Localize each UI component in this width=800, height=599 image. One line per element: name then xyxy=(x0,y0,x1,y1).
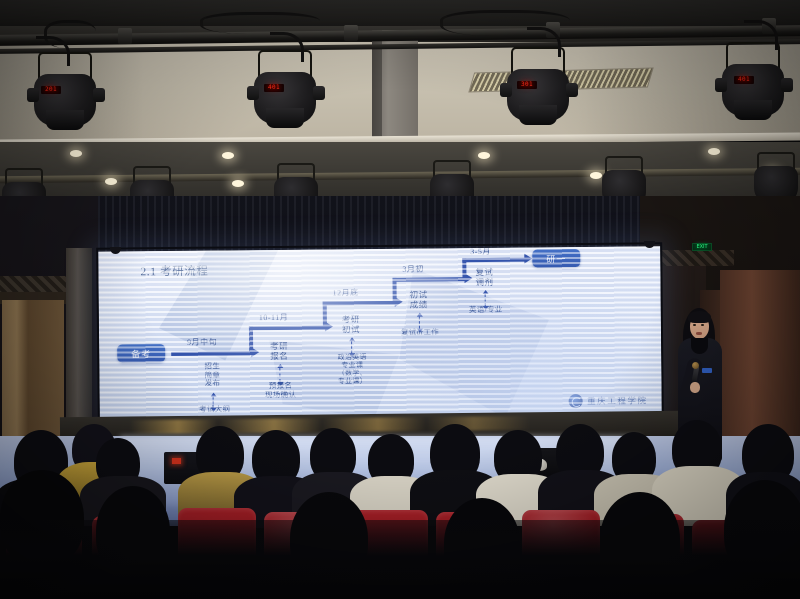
exit-sign: EXIT xyxy=(692,243,712,251)
stage-light-lens xyxy=(519,105,557,125)
flow-segment xyxy=(392,277,466,282)
stage-light-display: 401 xyxy=(264,84,284,92)
stage-light-display: 301 xyxy=(517,81,537,89)
stage-light-lens xyxy=(734,100,772,120)
auditorium-scene: 201 401 301 401 xyxy=(0,0,800,599)
stage-light-lens xyxy=(46,110,84,130)
flow-segment xyxy=(323,301,397,306)
stage-light-knob xyxy=(247,86,259,100)
stage-light-knob xyxy=(93,88,105,102)
presenter-eye xyxy=(693,324,696,326)
ceiling-downlight xyxy=(70,150,82,157)
presenter-badge xyxy=(702,368,712,373)
flow-stage-label: 考研 报名 xyxy=(259,342,299,362)
ceiling-downlight xyxy=(222,152,234,159)
flow-dashed-connector xyxy=(279,368,280,382)
stage-light-1: 201 xyxy=(30,52,102,134)
flow-dashed-connector xyxy=(351,341,352,353)
ceiling-downlight xyxy=(105,178,117,185)
flow-subdetail-label: 英语/专业 xyxy=(455,306,517,315)
school-name: 重庆工程学院 xyxy=(587,394,648,407)
presenter-mouth xyxy=(696,332,702,335)
stage-light-lens xyxy=(266,108,304,128)
foreground-darkness xyxy=(0,520,800,599)
ceiling-downlight xyxy=(232,180,244,187)
stage-light-display: 201 xyxy=(41,86,61,94)
flow-node-end: 研一 xyxy=(532,249,580,267)
flow-stage-label: 考研 初试 xyxy=(331,315,371,335)
stage-light-knob xyxy=(500,83,512,97)
flow-segment xyxy=(171,351,253,356)
flow-subdetail-label: 考试大纲 xyxy=(186,405,244,414)
flow-subdetail-label: 预报名 现场确认 xyxy=(251,382,309,400)
presenter-eye xyxy=(701,324,704,326)
flow-subdetail-label: 政治英语 专业课 （数学、 专业课） xyxy=(321,353,383,386)
school-emblem-icon xyxy=(569,394,583,408)
truss-clamp xyxy=(118,28,132,44)
slide-title: 2.1 考研流程 xyxy=(140,263,208,280)
stage-light-4: 401 xyxy=(718,42,790,124)
stage-monitor-led xyxy=(172,458,181,464)
presenter-fringe xyxy=(688,311,711,323)
stage-light-display: 401 xyxy=(734,76,754,84)
projection-screen: 2.1 考研流程 备考 研一 9月中旬 xyxy=(98,246,662,418)
flow-segment xyxy=(462,258,526,263)
flow-time-label: 10-11月 xyxy=(259,312,288,323)
stage-light-2: 401 xyxy=(250,50,322,132)
flow-time-label: 9月中旬 xyxy=(187,337,217,348)
power-cable xyxy=(200,12,320,34)
flow-subdetail-label: 复试or工作 xyxy=(389,328,451,337)
flow-segment xyxy=(249,326,327,331)
truss-clamp xyxy=(344,25,358,41)
flow-arrowhead xyxy=(524,254,532,264)
projection-screen-surface: 2.1 考研流程 备考 研一 9月中旬 xyxy=(98,246,662,418)
flow-time-label: 3-5月 xyxy=(470,246,491,257)
presenter-hand xyxy=(690,382,700,393)
flow-time-label: 12月底 xyxy=(333,287,359,298)
flow-stage-label: 初试 成绩 xyxy=(399,290,439,310)
stage-light-knob xyxy=(781,78,793,92)
stage-light-knob xyxy=(715,78,727,92)
flow-stage-label: 复试 调剂 xyxy=(464,268,504,288)
presenter-collar xyxy=(691,338,708,354)
flow-time-label: 3月初 xyxy=(402,264,424,275)
microphone-head-icon xyxy=(692,362,699,369)
flow-node-start: 备考 xyxy=(117,344,165,362)
stage-light-3: 301 xyxy=(503,47,575,129)
school-logo: 重庆工程学院 xyxy=(569,393,648,408)
flow-detail-label: 招生 简章 发布 xyxy=(191,362,233,388)
ceiling-downlight xyxy=(478,152,490,159)
flow-riser xyxy=(249,326,253,353)
ceiling-downlight xyxy=(708,148,720,155)
stage-light-knob xyxy=(27,88,39,102)
stage-light-knob xyxy=(313,86,325,100)
stage-light-knob xyxy=(566,83,578,97)
